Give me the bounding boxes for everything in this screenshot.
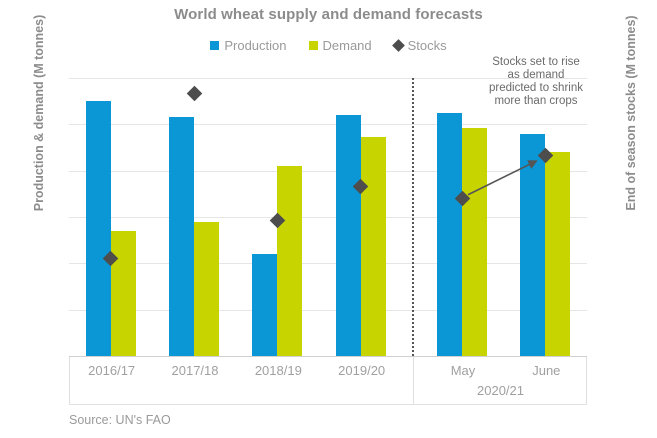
- x-tick-label: June: [501, 363, 591, 378]
- gridline: [69, 310, 587, 311]
- legend-label-demand: Demand: [323, 38, 372, 53]
- legend-label-stocks: Stocks: [408, 38, 447, 53]
- chart-title: World wheat supply and demand forecasts: [0, 6, 657, 23]
- y-axis-label-left: Production & demand (M tonnes): [32, 0, 46, 238]
- legend-item-demand[interactable]: Demand: [309, 38, 372, 53]
- gridline: [69, 263, 587, 264]
- x-tick-label: 2019/20: [317, 363, 407, 378]
- x-tick-label: 2016/17: [67, 363, 157, 378]
- category-axis-band: 2020/21 2016/172017/182018/192019/20MayJ…: [69, 357, 587, 405]
- bar-production[interactable]: [336, 115, 361, 356]
- chart-annotation: Stocks set to riseas demandpredicted to …: [462, 56, 610, 108]
- legend-label-production: Production: [224, 38, 286, 53]
- bar-production[interactable]: [252, 254, 277, 356]
- y-axis-label-right: End of season stocks (M tonnes): [624, 0, 638, 238]
- forecast-divider: [412, 78, 414, 356]
- stocks-marker[interactable]: [186, 86, 202, 102]
- x-tick-label: May: [418, 363, 508, 378]
- bar-demand[interactable]: [111, 231, 136, 356]
- annotation-line-1: Stocks set to rise: [462, 56, 610, 69]
- bar-demand[interactable]: [361, 137, 386, 356]
- bar-production[interactable]: [437, 113, 462, 356]
- x-tick-label: 2018/19: [233, 363, 323, 378]
- legend-item-stocks[interactable]: Stocks: [394, 38, 447, 53]
- annotation-line-3: predicted to shrink: [462, 82, 610, 95]
- gridline: [69, 171, 587, 172]
- source-note: Source: UN's FAO: [69, 413, 171, 427]
- bar-production[interactable]: [520, 134, 545, 356]
- square-marker-icon: [210, 41, 219, 50]
- bar-demand[interactable]: [462, 128, 487, 356]
- square-marker-icon: [309, 41, 318, 50]
- plot-area: 7107207307407507607702552602652702752802…: [69, 78, 587, 356]
- annotation-line-4: more than crops: [462, 95, 610, 108]
- bar-demand[interactable]: [277, 166, 302, 356]
- category-group-label: 2020/21: [413, 383, 588, 398]
- bar-demand[interactable]: [545, 152, 570, 356]
- bar-demand[interactable]: [194, 222, 219, 356]
- diamond-marker-icon: [392, 39, 405, 52]
- annotation-line-2: as demand: [462, 69, 610, 82]
- x-tick-label: 2017/18: [150, 363, 240, 378]
- bar-production[interactable]: [169, 117, 194, 356]
- legend-item-production[interactable]: Production: [210, 38, 286, 53]
- gridline: [69, 124, 587, 125]
- gridline: [69, 217, 587, 218]
- bar-production[interactable]: [86, 101, 111, 356]
- chart-legend: Production Demand Stocks: [0, 38, 657, 53]
